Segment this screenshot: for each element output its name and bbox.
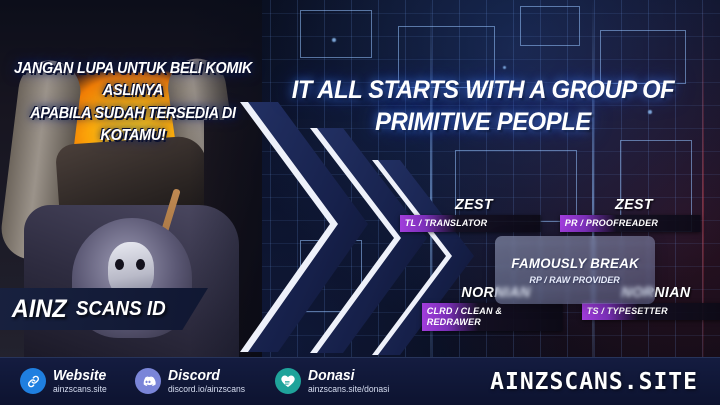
- nameplate-sub: SCANS ID: [76, 298, 166, 321]
- footer-link-label: Donasi: [308, 368, 388, 383]
- footer-link-website[interactable]: Website ainzscans.site: [20, 368, 110, 395]
- link-icon: [20, 368, 46, 394]
- title-line-1: IT ALL STARTS WITH A GROUP OF: [279, 74, 688, 106]
- credit-role: RP / RAW PROVIDER: [530, 275, 620, 286]
- footer-link-value: ainzscans.site/donasi: [308, 384, 389, 395]
- credits-list: ZEST TL / TRANSLATOR ZEST PR / PROOFREAD…: [400, 196, 710, 336]
- credit-entry: ZEST TL / TRANSLATOR: [400, 196, 548, 232]
- scan-group-nameplate: AINZ SCANS ID: [0, 288, 208, 330]
- footer-link-label: Discord: [168, 368, 243, 383]
- footer-link-donasi[interactable]: Donasi ainzscans.site/donasi: [275, 368, 394, 395]
- footer-link-text: Discord discord.io/ainzscans: [168, 368, 249, 395]
- credit-name: ZEST: [404, 196, 545, 213]
- credit-entry: ZEST PR / PROOFREADER: [560, 196, 708, 232]
- footer-link-text: Website ainzscans.site: [53, 368, 110, 395]
- notice-line-2: APABILA SUDAH TERSEDIA DI KOTAMU!: [9, 103, 256, 148]
- footer-link-value: discord.io/ainzscans: [168, 384, 245, 395]
- credit-name: FAMOUSLY BREAK: [511, 255, 639, 271]
- credit-role: TL / TRANSLATOR: [400, 215, 541, 232]
- notice-line-1: JANGAN LUPA UNTUK BELI KOMIK ASLINYA: [9, 58, 256, 103]
- site-brand: AINZSCANS.SITE: [490, 369, 698, 395]
- circuit-node: [503, 66, 506, 69]
- credit-name: ZEST: [564, 196, 705, 213]
- circuit-trace: [300, 10, 372, 58]
- footer-bar: Website ainzscans.site Discord discord.i…: [0, 357, 720, 405]
- title-line-2: PRIMITIVE PEOPLE: [279, 106, 688, 138]
- credits-page: JANGAN LUPA UNTUK BELI KOMIK ASLINYA APA…: [0, 0, 720, 405]
- series-title: IT ALL STARTS WITH A GROUP OF PRIMITIVE …: [268, 74, 698, 138]
- nameplate-main: AINZ: [12, 295, 67, 324]
- footer-link-label: Website: [53, 368, 106, 383]
- heart-hand-icon: [275, 368, 301, 394]
- credit-role: PR / PROOFREADER: [560, 215, 701, 232]
- circuit-node: [332, 38, 336, 42]
- discord-icon: [135, 368, 161, 394]
- buy-original-notice: JANGAN LUPA UNTUK BELI KOMIK ASLINYA APA…: [0, 58, 266, 148]
- credit-entry-highlight: FAMOUSLY BREAK RP / RAW PROVIDER: [495, 236, 655, 304]
- credit-role: TS / TYPESETTER: [582, 303, 720, 320]
- credit-role: CLRD / CLEAN & REDRAWER: [422, 303, 563, 331]
- circuit-trace: [520, 6, 580, 46]
- footer-link-text: Donasi ainzscans.site/donasi: [308, 368, 394, 395]
- footer-link-discord[interactable]: Discord discord.io/ainzscans: [135, 368, 249, 395]
- footer-link-value: ainzscans.site: [53, 384, 107, 395]
